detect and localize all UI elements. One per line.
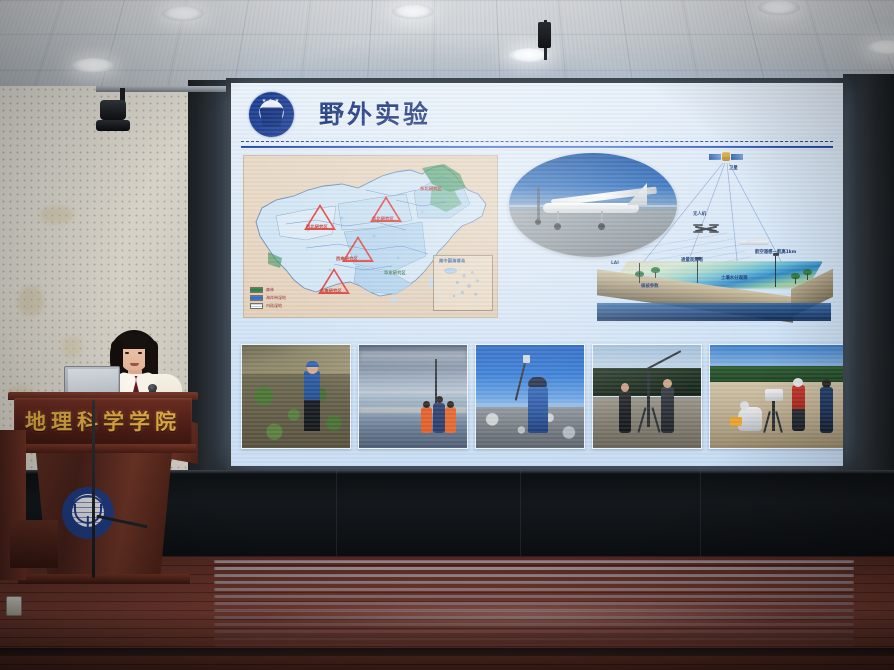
legend-label: 森林 (266, 287, 274, 293)
wall-stain (18, 286, 44, 316)
tripod-mast (772, 397, 775, 431)
multi-scale-observation-diagram: 卫星 (589, 149, 839, 324)
spectrometer-sensor (523, 355, 530, 363)
inset-islands (434, 264, 494, 306)
researcher-head (793, 378, 803, 387)
wall-stain (40, 206, 74, 224)
researcher-cap (306, 361, 319, 367)
wall-stain (62, 336, 82, 358)
researcher-figure (661, 387, 674, 433)
downlight (758, 0, 800, 15)
seal-gate-motif (260, 103, 284, 127)
vegetation-icon (791, 273, 800, 284)
spotlight-head (96, 120, 130, 131)
uav-rotor (693, 224, 703, 226)
legend-swatch (250, 295, 263, 301)
south-china-sea-inset: 南中国海诸岛 (433, 255, 493, 311)
floor-glare (250, 600, 810, 630)
projector-mount (538, 22, 551, 48)
uav-rotor (693, 231, 703, 233)
legend-label: 内陆湿地 (266, 303, 282, 309)
slide-title: 野外实验 (319, 95, 431, 131)
diagram-label-vegetation: 植被参数 (641, 283, 659, 289)
equipment-bag (730, 417, 742, 426)
podium-base (18, 574, 190, 584)
researcher-figure (820, 387, 833, 433)
researcher-head (822, 379, 831, 388)
laptop-screen (68, 369, 118, 392)
diagram-label-lai: LAI (611, 261, 619, 266)
vegetation-icon (651, 267, 660, 278)
legend-row: 内陆湿地 (250, 303, 286, 309)
diagram-label-flux-tower: 通量观测塔 (681, 257, 703, 263)
wall-outlet (6, 596, 22, 616)
diagram-label-uav: 无人机 (693, 211, 706, 217)
site-marker-label: 华东研究区 (384, 270, 406, 276)
team-member-head (436, 396, 443, 403)
stage-step (10, 520, 58, 568)
backdrop-seam (336, 470, 337, 562)
emblem-stem (87, 516, 89, 530)
terrain-block (595, 253, 833, 319)
site-marker-label: 西南研究区 (336, 256, 358, 262)
team-member-head (423, 401, 430, 408)
team-member (433, 403, 445, 433)
uav-rotor (709, 224, 719, 226)
team-member (421, 407, 432, 433)
diagram-label-soil-moisture: 土壤水分观测 (721, 275, 747, 281)
survey-aircraft-icon (739, 237, 773, 247)
slide-header: ★★★ 野外实验 (231, 83, 843, 149)
landing-wheel (554, 223, 561, 230)
researcher-figure (528, 385, 548, 433)
researcher-head (621, 383, 629, 392)
site-marker-label: 华北研究区 (372, 216, 394, 222)
cloud-band (359, 351, 467, 367)
presenter-eye (125, 352, 129, 354)
field-photo-spectrometer-survey (475, 344, 585, 449)
field-photo-tidal-flat-team (358, 344, 468, 449)
school-globe-emblem (62, 487, 114, 539)
propeller (537, 187, 540, 221)
lecture-hall-scene: ★★★ 野外实验 (0, 0, 894, 670)
presenter-eye (138, 352, 142, 354)
team-member (445, 407, 456, 433)
field-photo-sandflat-measurement (709, 344, 843, 449)
researcher-figure (619, 391, 631, 433)
tripod-mast (647, 371, 650, 427)
laptop-lid (64, 366, 120, 394)
microphone-head (148, 384, 157, 392)
header-dashed-rule (241, 141, 833, 142)
right-wall-panel (843, 74, 894, 480)
podium-front-panel: 地理科学学院 (14, 398, 192, 444)
vegetation-icon (803, 269, 812, 280)
legend-row: 森林 (250, 287, 286, 293)
backdrop-seam (520, 470, 521, 562)
field-photo-tripod-instrument (592, 344, 702, 449)
legend-swatch (250, 287, 263, 293)
map-legend: 森林 海岸带湿地 内陆湿地 (250, 287, 286, 311)
field-photo-vegetated-mudflat (241, 344, 351, 449)
site-marker-label: 华南研究区 (320, 288, 342, 294)
researcher-head (663, 379, 672, 388)
wall-trim (96, 86, 226, 92)
downlight (392, 4, 434, 19)
observation-mast (639, 263, 640, 283)
researcher-hat (528, 377, 547, 387)
team-member-head (447, 401, 454, 408)
mast-sensor (773, 253, 779, 256)
researcher-figure (304, 371, 320, 431)
trunk (655, 272, 656, 278)
projection-screen: ★★★ 野外实验 (231, 83, 843, 466)
legend-row: 海岸带湿地 (250, 295, 286, 301)
researcher-figure (792, 385, 805, 431)
podium-ledge (10, 444, 196, 453)
field-photo-strip (241, 344, 835, 454)
aircraft-body (739, 241, 769, 245)
legend-label: 海岸带湿地 (266, 295, 286, 301)
uav-icon (693, 223, 719, 234)
floor-edge (0, 648, 894, 656)
china-study-sites-map: 西北研究区 华北研究区 西南研究区 华南研究区 东北研究区 华东研究区 南中国海… (243, 155, 498, 318)
spotlight-body (100, 100, 126, 120)
trunk (795, 278, 796, 284)
instrument-head (765, 389, 783, 401)
downlight (72, 58, 114, 73)
trunk (807, 274, 808, 280)
podium-institution-text: 地理科学学院 (25, 406, 181, 436)
researcher-head (740, 401, 749, 410)
vegetation-cover (242, 374, 350, 448)
header-solid-rule (241, 146, 833, 148)
legend-swatch (250, 303, 263, 309)
backdrop-seam (700, 470, 701, 562)
site-marker-label: 西北研究区 (306, 224, 328, 230)
downlight (162, 6, 204, 21)
water-layer (597, 303, 831, 321)
university-seal-icon: ★★★ (249, 92, 294, 137)
site-marker-label: 东北研究区 (420, 186, 442, 192)
observation-mast (775, 255, 776, 287)
microphone-cable (92, 400, 95, 578)
uav-rotor (709, 231, 719, 233)
nose-wheel (535, 219, 541, 225)
